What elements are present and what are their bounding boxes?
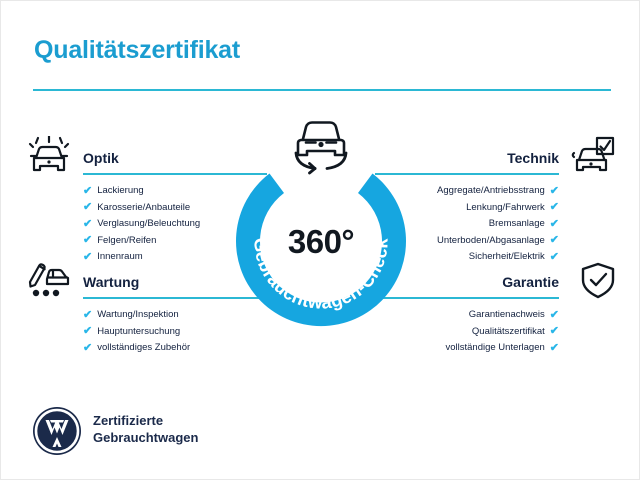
car-shine-icon	[27, 136, 71, 176]
list-item-label: Innenraum	[97, 249, 142, 266]
list-item: ✔vollständiges Zubehör	[83, 340, 267, 357]
list-item-label: vollständiges Zubehör	[97, 340, 190, 357]
check-icon: ✔	[83, 202, 92, 213]
check-icon: ✔	[83, 186, 92, 197]
check-icon: ✔	[550, 202, 559, 213]
check-icon: ✔	[550, 310, 559, 321]
badge-degrees-label: 360°	[228, 223, 414, 261]
check-icon: ✔	[83, 310, 92, 321]
list-item-label: Aggregate/Antriebsstrang	[437, 183, 545, 200]
list-item-label: vollständige Unterlagen	[445, 340, 544, 357]
car-service-pen-icon	[27, 260, 71, 300]
list-item-label: Unterboden/Abgasanlage	[437, 233, 545, 250]
check-icon: ✔	[550, 219, 559, 230]
list-item-label: Sicherheit/Elektrik	[469, 249, 545, 266]
list-item: vollständige Unterlagen✔	[375, 340, 559, 357]
check-icon: ✔	[83, 219, 92, 230]
check-icon: ✔	[83, 343, 92, 354]
check-icon: ✔	[550, 343, 559, 354]
list-item-label: Bremsanlage	[489, 216, 545, 233]
check-icon: ✔	[550, 326, 559, 337]
footer-line-1: Zertifizierte	[93, 412, 198, 429]
title-divider	[33, 89, 611, 91]
footer-line-2: Gebrauchtwagen	[93, 429, 198, 446]
shield-check-icon	[576, 261, 620, 301]
check-icon: ✔	[550, 235, 559, 246]
check-icon: ✔	[83, 252, 92, 263]
footer-brand-text: Zertifizierte Gebrauchtwagen	[93, 412, 198, 446]
check-icon: ✔	[83, 326, 92, 337]
gebrauchtwagen-check-badge: Gebrauchtwagen-Check 360°	[228, 149, 414, 335]
page-title: Qualitätszertifikat	[34, 36, 240, 65]
list-item-label: Verglasung/Beleuchtung	[97, 216, 200, 233]
volkswagen-logo	[31, 405, 83, 457]
check-icon: ✔	[83, 235, 92, 246]
list-item-label: Lenkung/Fahrwerk	[466, 200, 545, 217]
list-item-label: Lackierung	[97, 183, 143, 200]
car-rotate-360-icon	[285, 113, 357, 175]
list-item-label: Felgen/Reifen	[97, 233, 156, 250]
list-item-label: Garantienachweis	[469, 307, 545, 324]
list-item-label: Karosserie/Anbauteile	[97, 200, 190, 217]
list-item-label: Hauptuntersuchung	[97, 324, 180, 341]
list-item-label: Wartung/Inspektion	[97, 307, 179, 324]
car-checkbox-icon	[571, 136, 615, 176]
check-icon: ✔	[550, 186, 559, 197]
qualitaetszertifikat-page: Qualitätszertifikat Optik	[0, 0, 640, 480]
list-item-label: Qualitätszertifikat	[472, 324, 545, 341]
check-icon: ✔	[550, 252, 559, 263]
